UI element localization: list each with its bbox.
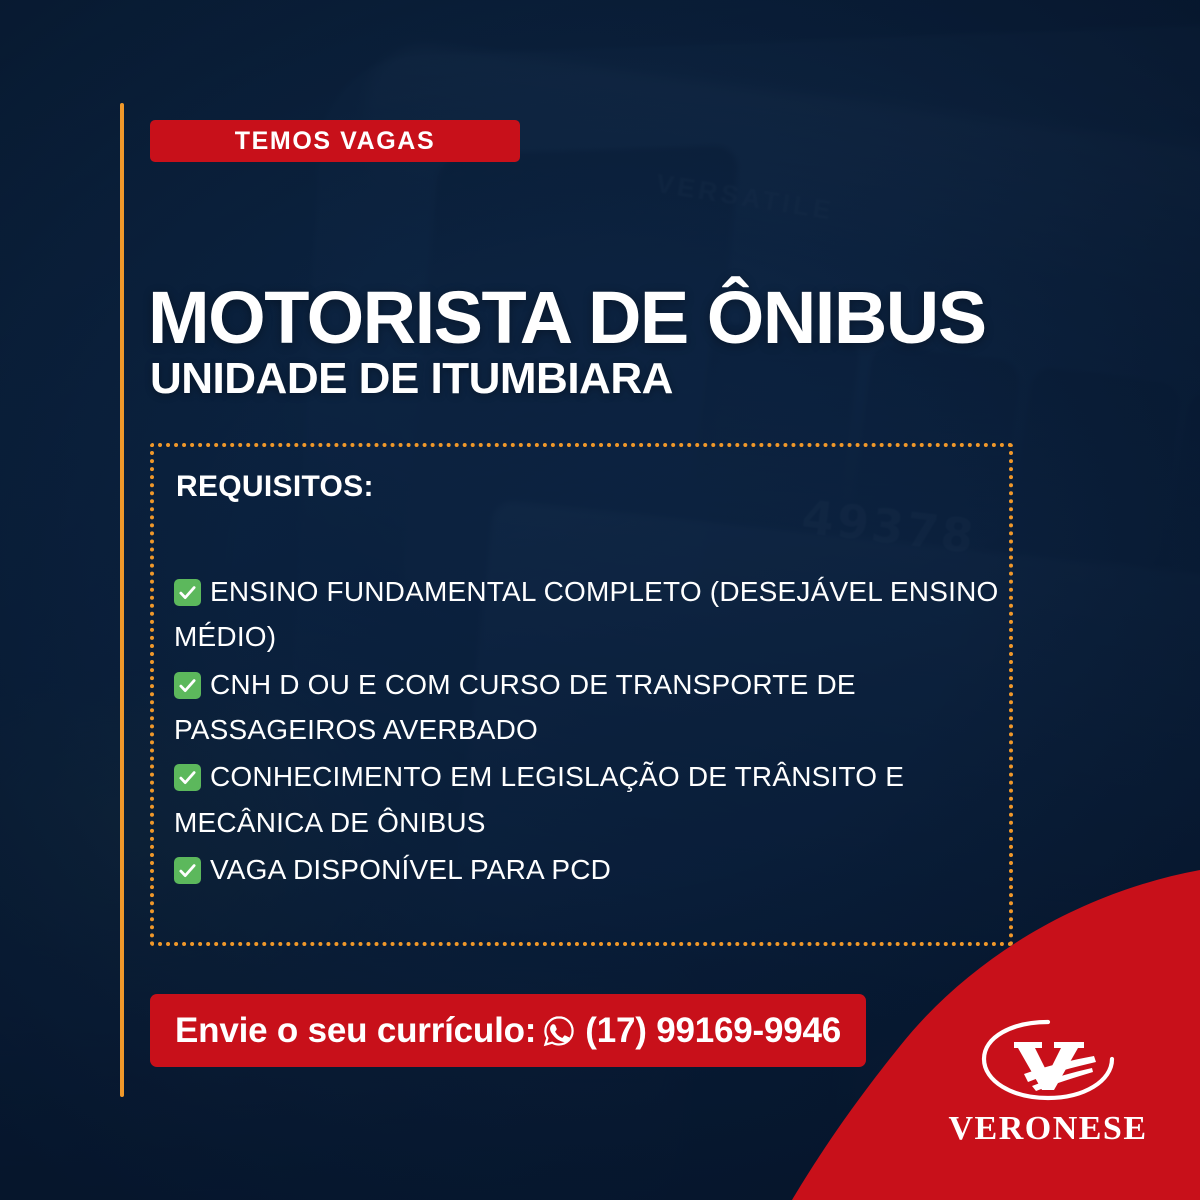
requirement-item: ENSINO FUNDAMENTAL COMPLETO (DESEJÁVEL E…	[174, 569, 999, 660]
requirement-text: CONHECIMENTO EM LEGISLAÇÃO DE TRÂNSITO E…	[174, 761, 904, 837]
check-icon	[174, 857, 201, 884]
left-accent-rule	[120, 103, 124, 1097]
check-icon	[174, 579, 201, 606]
contact-bar[interactable]: Envie o seu currículo: (17) 99169-9946	[150, 994, 866, 1067]
contact-phone: (17) 99169-9946	[585, 1011, 841, 1051]
requirement-text: ENSINO FUNDAMENTAL COMPLETO (DESEJÁVEL E…	[174, 576, 998, 652]
requirements-list: ENSINO FUNDAMENTAL COMPLETO (DESEJÁVEL E…	[174, 569, 999, 895]
requirements-heading: REQUISITOS:	[176, 470, 374, 504]
requirements-box: REQUISITOS: ENSINO FUNDAMENTAL COMPLETO …	[150, 443, 1013, 946]
requirement-item: VAGA DISPONÍVEL PARA PCD	[174, 847, 999, 892]
requirement-item: CNH D OU E COM CURSO DE TRANSPORTE DE PA…	[174, 662, 999, 753]
brand-logo: VERONESE	[942, 1012, 1154, 1148]
requirement-text: VAGA DISPONÍVEL PARA PCD	[210, 854, 611, 885]
brand-name: VERONESE	[942, 1110, 1154, 1148]
badge-label: TEMOS VAGAS	[235, 127, 436, 156]
check-icon	[174, 764, 201, 791]
job-vacancy-poster: VERSATILE 49378 TEMOS VAGAS MOTORISTA DE…	[0, 0, 1200, 1200]
requirement-item: CONHECIMENTO EM LEGISLAÇÃO DE TRÂNSITO E…	[174, 754, 999, 845]
whatsapp-icon	[542, 1014, 576, 1048]
page-subtitle: UNIDADE DE ITUMBIARA	[150, 357, 673, 401]
contact-label: Envie o seu currículo:	[175, 1011, 536, 1051]
contact-text: Envie o seu currículo: (17) 99169-9946	[175, 1011, 841, 1051]
requirement-text: CNH D OU E COM CURSO DE TRANSPORTE DE PA…	[174, 669, 856, 745]
check-icon	[174, 672, 201, 699]
temos-vagas-badge: TEMOS VAGAS	[150, 120, 520, 162]
v-oval-swoosh-logo-icon	[968, 1012, 1128, 1108]
page-title: MOTORISTA DE ÔNIBUS	[148, 281, 986, 355]
